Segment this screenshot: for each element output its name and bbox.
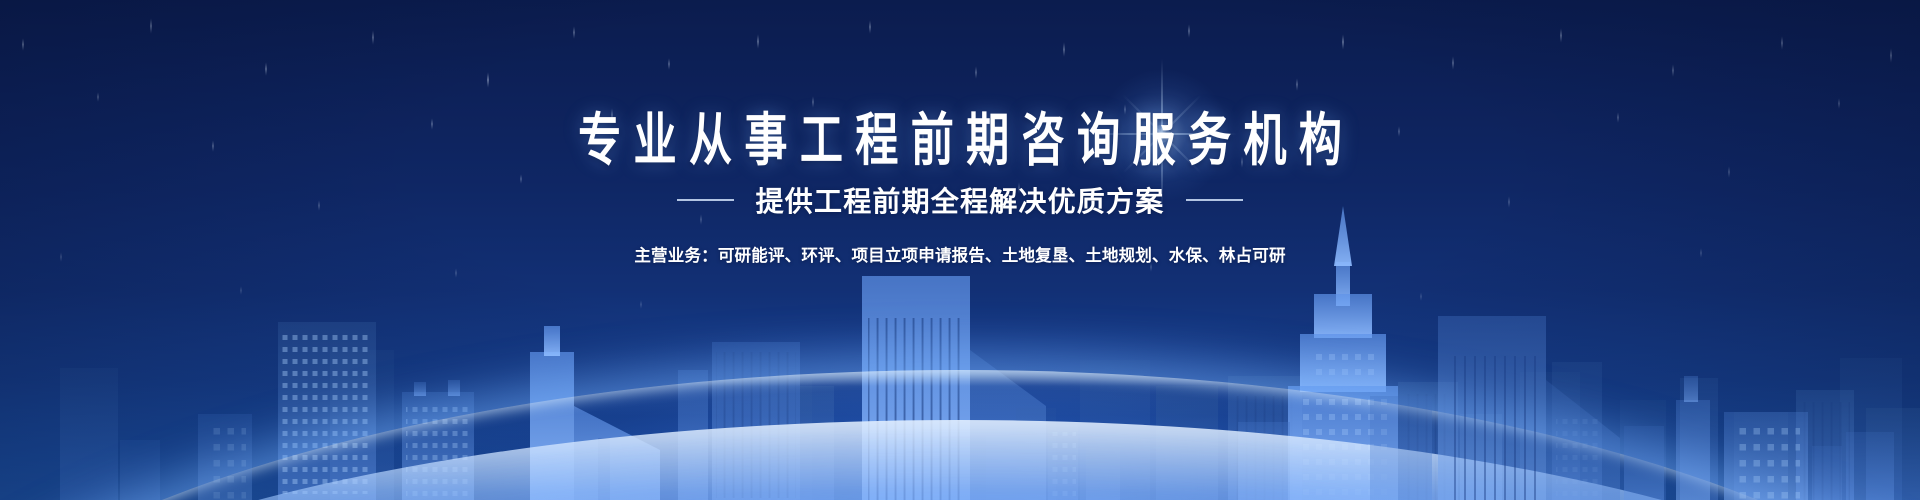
city-skyline-right-icon <box>0 200 1920 500</box>
hero-banner: 专业从事工程前期咨询服务机构 提供工程前期全程解决优质方案 主营业务：可研能评、… <box>0 0 1920 500</box>
